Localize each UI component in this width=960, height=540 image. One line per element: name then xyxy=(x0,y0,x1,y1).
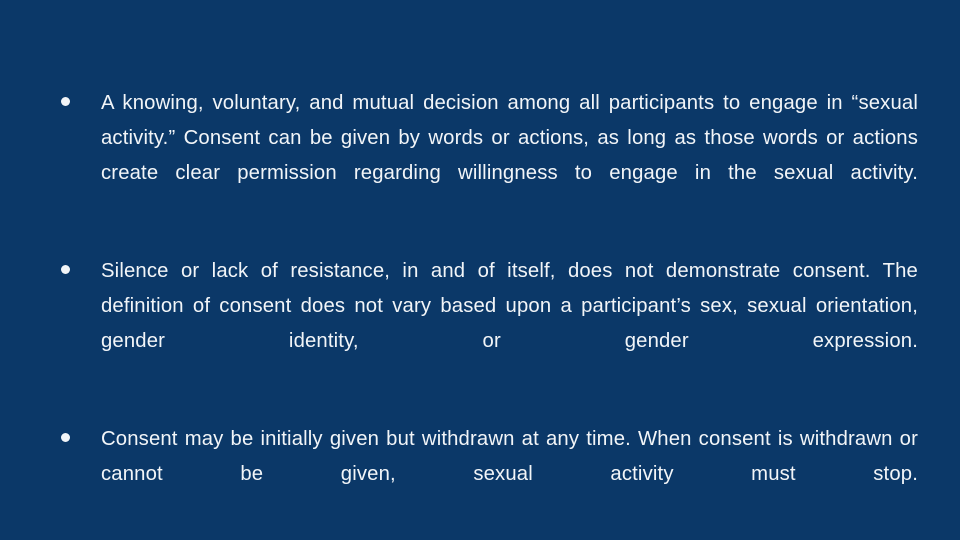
list-item: Silence or lack of resistance, in and of… xyxy=(60,254,918,394)
bullet-point-icon xyxy=(61,265,70,274)
bullet-point-icon xyxy=(61,433,70,442)
bullet-item-text: Silence or lack of resistance, in and of… xyxy=(101,254,918,394)
slide-canvas: A knowing, voluntary, and mutual decisio… xyxy=(0,0,960,540)
list-item: A knowing, voluntary, and mutual decisio… xyxy=(60,86,918,226)
list-item: Consent may be initially given but withd… xyxy=(60,422,918,527)
bullet-item-text: Consent may be initially given but withd… xyxy=(101,422,918,527)
bullet-list: A knowing, voluntary, and mutual decisio… xyxy=(60,86,918,527)
bullet-point-icon xyxy=(61,97,70,106)
bullet-item-text: A knowing, voluntary, and mutual decisio… xyxy=(101,86,918,226)
